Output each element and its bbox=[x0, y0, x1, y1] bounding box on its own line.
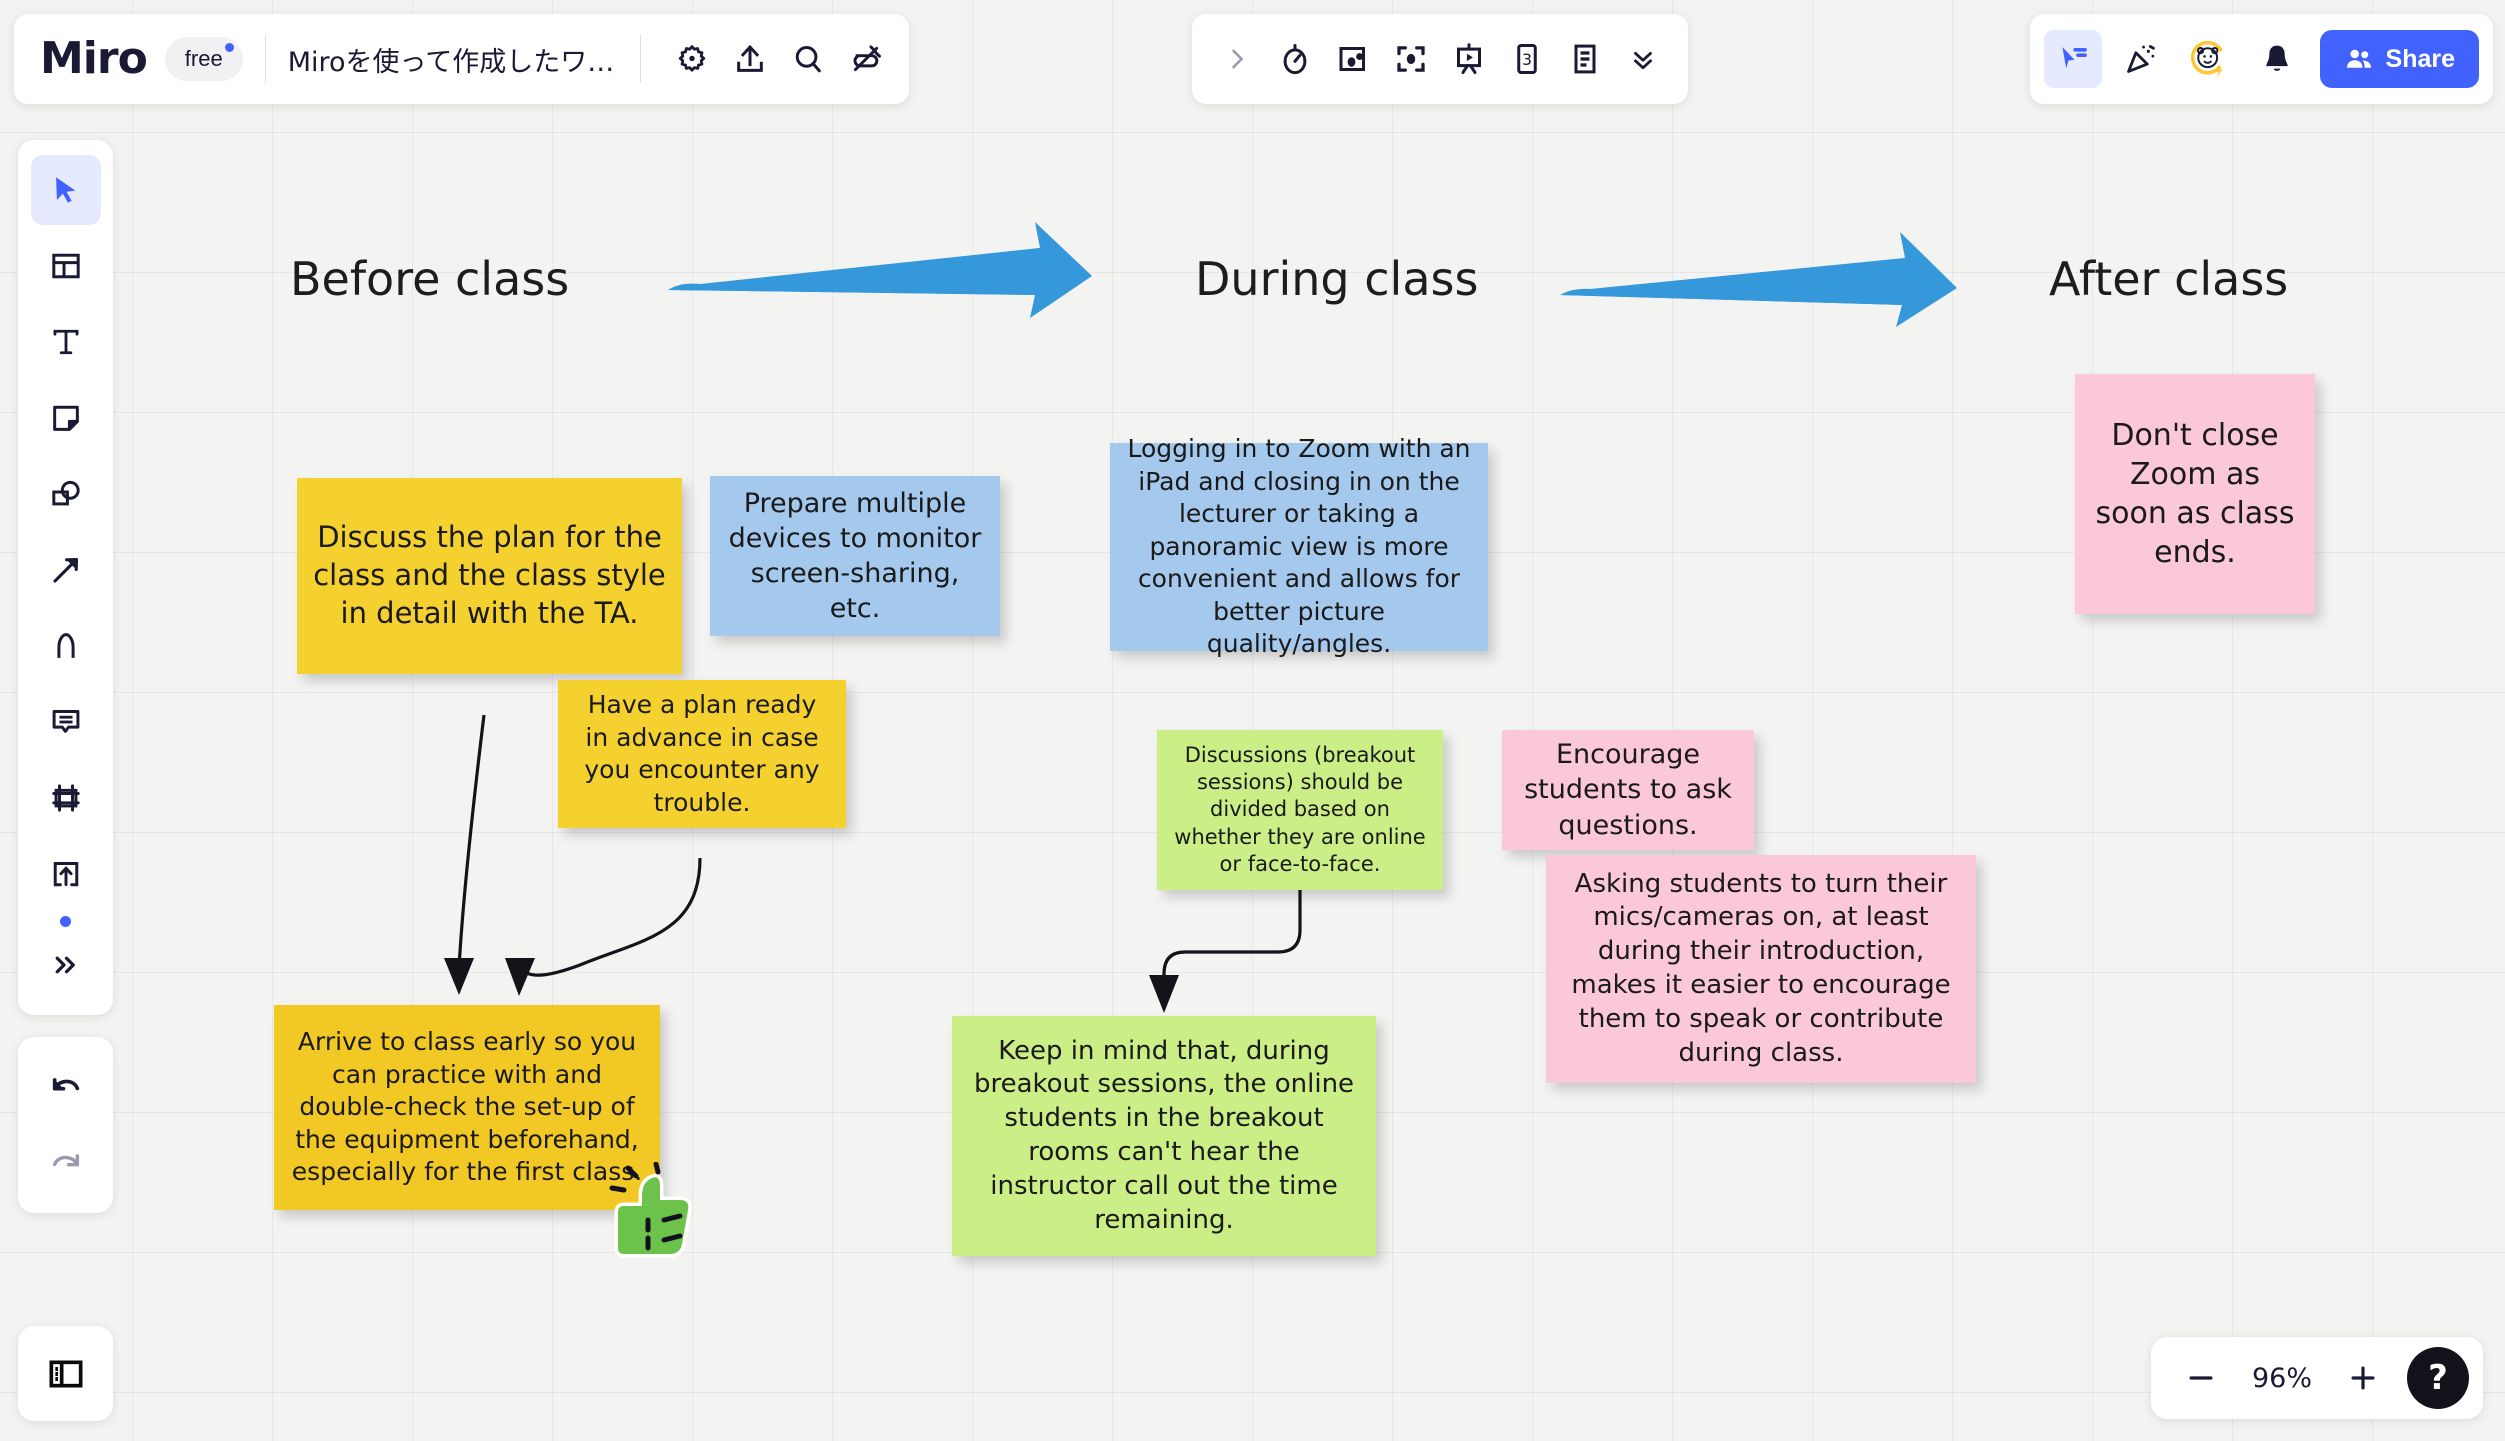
zoom-level-value[interactable]: 96% bbox=[2239, 1363, 2325, 1394]
sticky-note[interactable]: Logging in to Zoom with an iPad and clos… bbox=[1110, 443, 1488, 651]
plan-badge-free[interactable]: free bbox=[165, 37, 243, 81]
section-title-during-class: During class bbox=[1195, 252, 1478, 306]
divider bbox=[640, 35, 641, 83]
share-button[interactable]: Share bbox=[2320, 30, 2479, 88]
section-title-after-class: After class bbox=[2049, 252, 2288, 306]
sticky-note[interactable]: Prepare multiple devices to monitor scre… bbox=[710, 476, 1000, 636]
connector-plan-to-arrive bbox=[444, 715, 484, 995]
upload-icon[interactable] bbox=[721, 30, 779, 88]
expand-right-icon[interactable] bbox=[1208, 30, 1266, 88]
apps-plugin-icon[interactable] bbox=[837, 30, 895, 88]
sticky-note[interactable]: Arrive to class early so you can practic… bbox=[274, 1005, 660, 1210]
plan-badge-dot bbox=[225, 43, 234, 52]
plan-badge-label: free bbox=[185, 46, 223, 71]
sticky-note[interactable]: Don't close Zoom as soon as class ends. bbox=[2075, 374, 2315, 614]
sticky-note[interactable]: Have a plan ready in advance in case you… bbox=[558, 680, 846, 828]
video-chat-icon[interactable] bbox=[1324, 30, 1382, 88]
celebrate-icon[interactable] bbox=[2112, 30, 2170, 88]
collapse-down-icon[interactable] bbox=[1614, 30, 1672, 88]
help-button[interactable]: ? bbox=[2407, 1347, 2469, 1409]
flow-arrow-1 bbox=[668, 222, 1092, 318]
left-toolbar-tools bbox=[18, 140, 113, 1015]
zoom-out-button[interactable] bbox=[2173, 1350, 2229, 1406]
comment-icon[interactable] bbox=[31, 687, 101, 757]
top-bar-left-group: Miro free Miroを使って作成したワー... bbox=[14, 14, 909, 104]
templates-icon[interactable] bbox=[31, 231, 101, 301]
board-settings-icon[interactable] bbox=[663, 30, 721, 88]
arrow-connector-icon[interactable] bbox=[31, 535, 101, 605]
more-tools-indicator-dot bbox=[60, 916, 71, 927]
connector-breakout-to-keepinmind bbox=[1149, 890, 1300, 1013]
flow-arrow-2 bbox=[1560, 232, 1957, 327]
miro-board-app: Before class During class After class bbox=[0, 0, 2505, 1441]
zoom-control: 96% ? bbox=[2151, 1337, 2483, 1419]
search-icon[interactable] bbox=[779, 30, 837, 88]
miro-logo[interactable]: Miro bbox=[40, 37, 147, 81]
pen-icon[interactable] bbox=[31, 611, 101, 681]
more-tools-icon[interactable] bbox=[31, 930, 101, 1000]
sticky-note[interactable]: Discuss the plan for the class and the c… bbox=[297, 478, 682, 674]
top-bar-mid-group: 3 bbox=[1192, 14, 1688, 104]
top-bar-right-group: Share bbox=[2030, 14, 2493, 104]
board-title[interactable]: Miroを使って作成したワー... bbox=[288, 40, 618, 79]
undo-icon[interactable] bbox=[31, 1052, 101, 1122]
connector-trouble-to-arrive bbox=[505, 858, 700, 996]
redo-icon[interactable] bbox=[31, 1128, 101, 1198]
upload-import-icon[interactable] bbox=[31, 839, 101, 909]
svg-text:3: 3 bbox=[1522, 50, 1532, 69]
section-title-before-class: Before class bbox=[290, 252, 569, 306]
notification-bell-icon[interactable] bbox=[2248, 30, 2306, 88]
side-panel-icon[interactable] bbox=[18, 1326, 113, 1421]
select-cursor-icon[interactable] bbox=[31, 155, 101, 225]
sticky-note[interactable]: Discussions (breakout sessions) should b… bbox=[1157, 730, 1443, 890]
sticky-note[interactable]: Keep in mind that, during breakout sessi… bbox=[952, 1016, 1376, 1256]
zoom-in-button[interactable] bbox=[2335, 1350, 2391, 1406]
left-toolbar-history bbox=[18, 1037, 113, 1213]
help-button-label: ? bbox=[2428, 1358, 2448, 1398]
top-bar: Miro free Miroを使って作成したワー... bbox=[0, 0, 2505, 118]
text-icon[interactable] bbox=[31, 307, 101, 377]
left-toolbar bbox=[18, 140, 113, 1213]
sticky-note[interactable]: Asking students to turn their mics/camer… bbox=[1546, 855, 1976, 1083]
people-icon bbox=[2344, 44, 2374, 74]
user-avatar-icon[interactable] bbox=[2180, 30, 2238, 88]
divider bbox=[265, 35, 266, 83]
voting-cards-icon[interactable]: 3 bbox=[1498, 30, 1556, 88]
frame-icon[interactable] bbox=[31, 763, 101, 833]
thumbs-up-sticker[interactable] bbox=[608, 1162, 700, 1267]
shapes-icon[interactable] bbox=[31, 459, 101, 529]
presentation-icon[interactable] bbox=[1440, 30, 1498, 88]
sticky-note-icon[interactable] bbox=[31, 383, 101, 453]
follow-cursor-icon[interactable] bbox=[2044, 30, 2102, 88]
share-button-label: Share bbox=[2386, 45, 2455, 74]
notes-icon[interactable] bbox=[1556, 30, 1614, 88]
board-canvas[interactable]: Before class During class After class bbox=[0, 0, 2505, 1441]
timer-icon[interactable] bbox=[1266, 30, 1324, 88]
focus-mode-icon[interactable] bbox=[1382, 30, 1440, 88]
sticky-note[interactable]: Encourage students to ask questions. bbox=[1502, 730, 1754, 850]
